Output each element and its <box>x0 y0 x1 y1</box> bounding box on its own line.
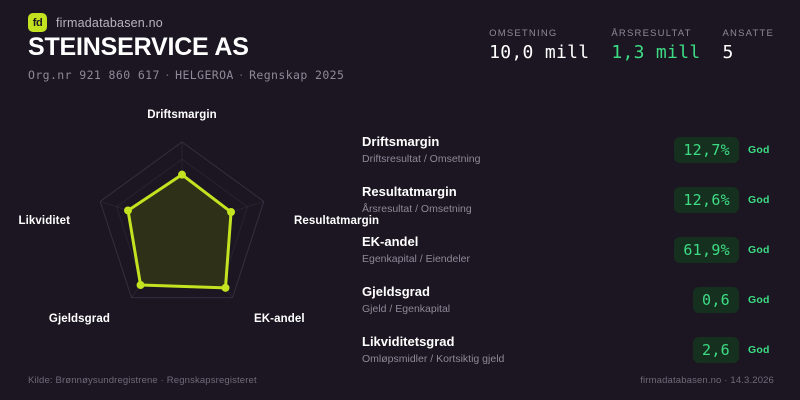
kpi-omsetning-value: 10,0 mill <box>489 44 589 62</box>
radar-label-ek-andel: EK-andel <box>254 313 305 325</box>
brand-name: firmadatabasen.no <box>56 16 163 30</box>
meta-separator-2: · <box>234 68 249 82</box>
metric-value-badge: 12,7% <box>674 137 739 163</box>
metric-row: Likviditetsgrad Omløpsmidler / Kortsikti… <box>362 330 782 370</box>
metric-row: Gjeldsgrad Gjeld / Egenkapital 0,6 God <box>362 280 782 320</box>
metric-name: Likviditetsgrad <box>362 334 693 350</box>
metric-value-badge: 61,9% <box>674 237 739 263</box>
radar-label-driftsmargin: Driftsmargin <box>147 109 217 121</box>
infographic-card: fd firmadatabasen.no STEINSERVICE AS Org… <box>0 0 800 400</box>
metrics-list: Driftsmargin Driftsresultat / Omsetning … <box>362 130 782 380</box>
kpi-ansatte: ANSATTE 5 <box>722 28 774 62</box>
status-badge: God <box>748 144 782 156</box>
company-meta: Org.nr 921 860 617·HELGEROA·Regnskap 202… <box>28 68 344 82</box>
logo-icon: fd <box>28 13 47 32</box>
footer-source: Kilde: Brønnøysundregistrene · Regnskaps… <box>28 375 257 386</box>
metric-name: Resultatmargin <box>362 184 674 200</box>
kpi-omsetning: OMSETNING 10,0 mill <box>489 28 589 62</box>
meta-separator-1: · <box>160 68 175 82</box>
status-badge: God <box>748 294 782 306</box>
company-period: Regnskap 2025 <box>249 68 344 82</box>
footer: Kilde: Brønnøysundregistrene · Regnskaps… <box>0 366 800 400</box>
metric-name: Driftsmargin <box>362 134 674 150</box>
metric-text: Gjeldsgrad Gjeld / Egenkapital <box>362 284 693 315</box>
kpi-arsresultat: ÅRSRESULTAT 1,3 mill <box>611 28 700 62</box>
metric-row: Driftsmargin Driftsresultat / Omsetning … <box>362 130 782 170</box>
metric-value-badge: 0,6 <box>693 287 739 313</box>
metric-text: Resultatmargin Årsresultat / Omsetning <box>362 184 674 215</box>
metric-formula: Egenkapital / Eiendeler <box>362 252 674 266</box>
status-badge: God <box>748 344 782 356</box>
metric-formula: Omløpsmidler / Kortsiktig gjeld <box>362 352 693 366</box>
metric-name: Gjeldsgrad <box>362 284 693 300</box>
header: fd firmadatabasen.no STEINSERVICE AS Org… <box>0 0 800 88</box>
kpi-strip: OMSETNING 10,0 mill ÅRSRESULTAT 1,3 mill… <box>489 28 774 62</box>
kpi-ansatte-label: ANSATTE <box>722 28 774 39</box>
metric-value-badge: 2,6 <box>693 337 739 363</box>
metric-formula: Årsresultat / Omsetning <box>362 202 674 216</box>
page-title: STEINSERVICE AS <box>28 34 249 60</box>
company-orgnr: Org.nr 921 860 617 <box>28 68 160 82</box>
radar-chart: Driftsmargin Resultatmargin EK-andel Gje… <box>0 88 360 338</box>
metric-formula: Gjeld / Egenkapital <box>362 302 693 316</box>
radar-label-likviditet: Likviditet <box>19 215 70 227</box>
radar-label-gjeldsgrad: Gjeldsgrad <box>49 313 110 325</box>
metric-row: EK-andel Egenkapital / Eiendeler 61,9% G… <box>362 230 782 270</box>
metric-name: EK-andel <box>362 234 674 250</box>
company-place: HELGEROA <box>175 68 234 82</box>
radar-chart-svg <box>0 88 360 338</box>
status-badge: God <box>748 194 782 206</box>
metric-formula: Driftsresultat / Omsetning <box>362 152 674 166</box>
metric-text: Likviditetsgrad Omløpsmidler / Kortsikti… <box>362 334 693 365</box>
metric-text: Driftsmargin Driftsresultat / Omsetning <box>362 134 674 165</box>
brand[interactable]: fd firmadatabasen.no <box>28 13 163 32</box>
metric-text: EK-andel Egenkapital / Eiendeler <box>362 234 674 265</box>
metric-value-badge: 12,6% <box>674 187 739 213</box>
status-badge: God <box>748 244 782 256</box>
footer-site-date: firmadatabasen.no · 14.3.2026 <box>640 375 774 386</box>
kpi-omsetning-label: OMSETNING <box>489 28 589 39</box>
kpi-arsresultat-value: 1,3 mill <box>611 44 700 62</box>
kpi-arsresultat-label: ÅRSRESULTAT <box>611 28 700 39</box>
kpi-ansatte-value: 5 <box>722 44 774 62</box>
metric-row: Resultatmargin Årsresultat / Omsetning 1… <box>362 180 782 220</box>
radar-series-area <box>128 175 231 288</box>
